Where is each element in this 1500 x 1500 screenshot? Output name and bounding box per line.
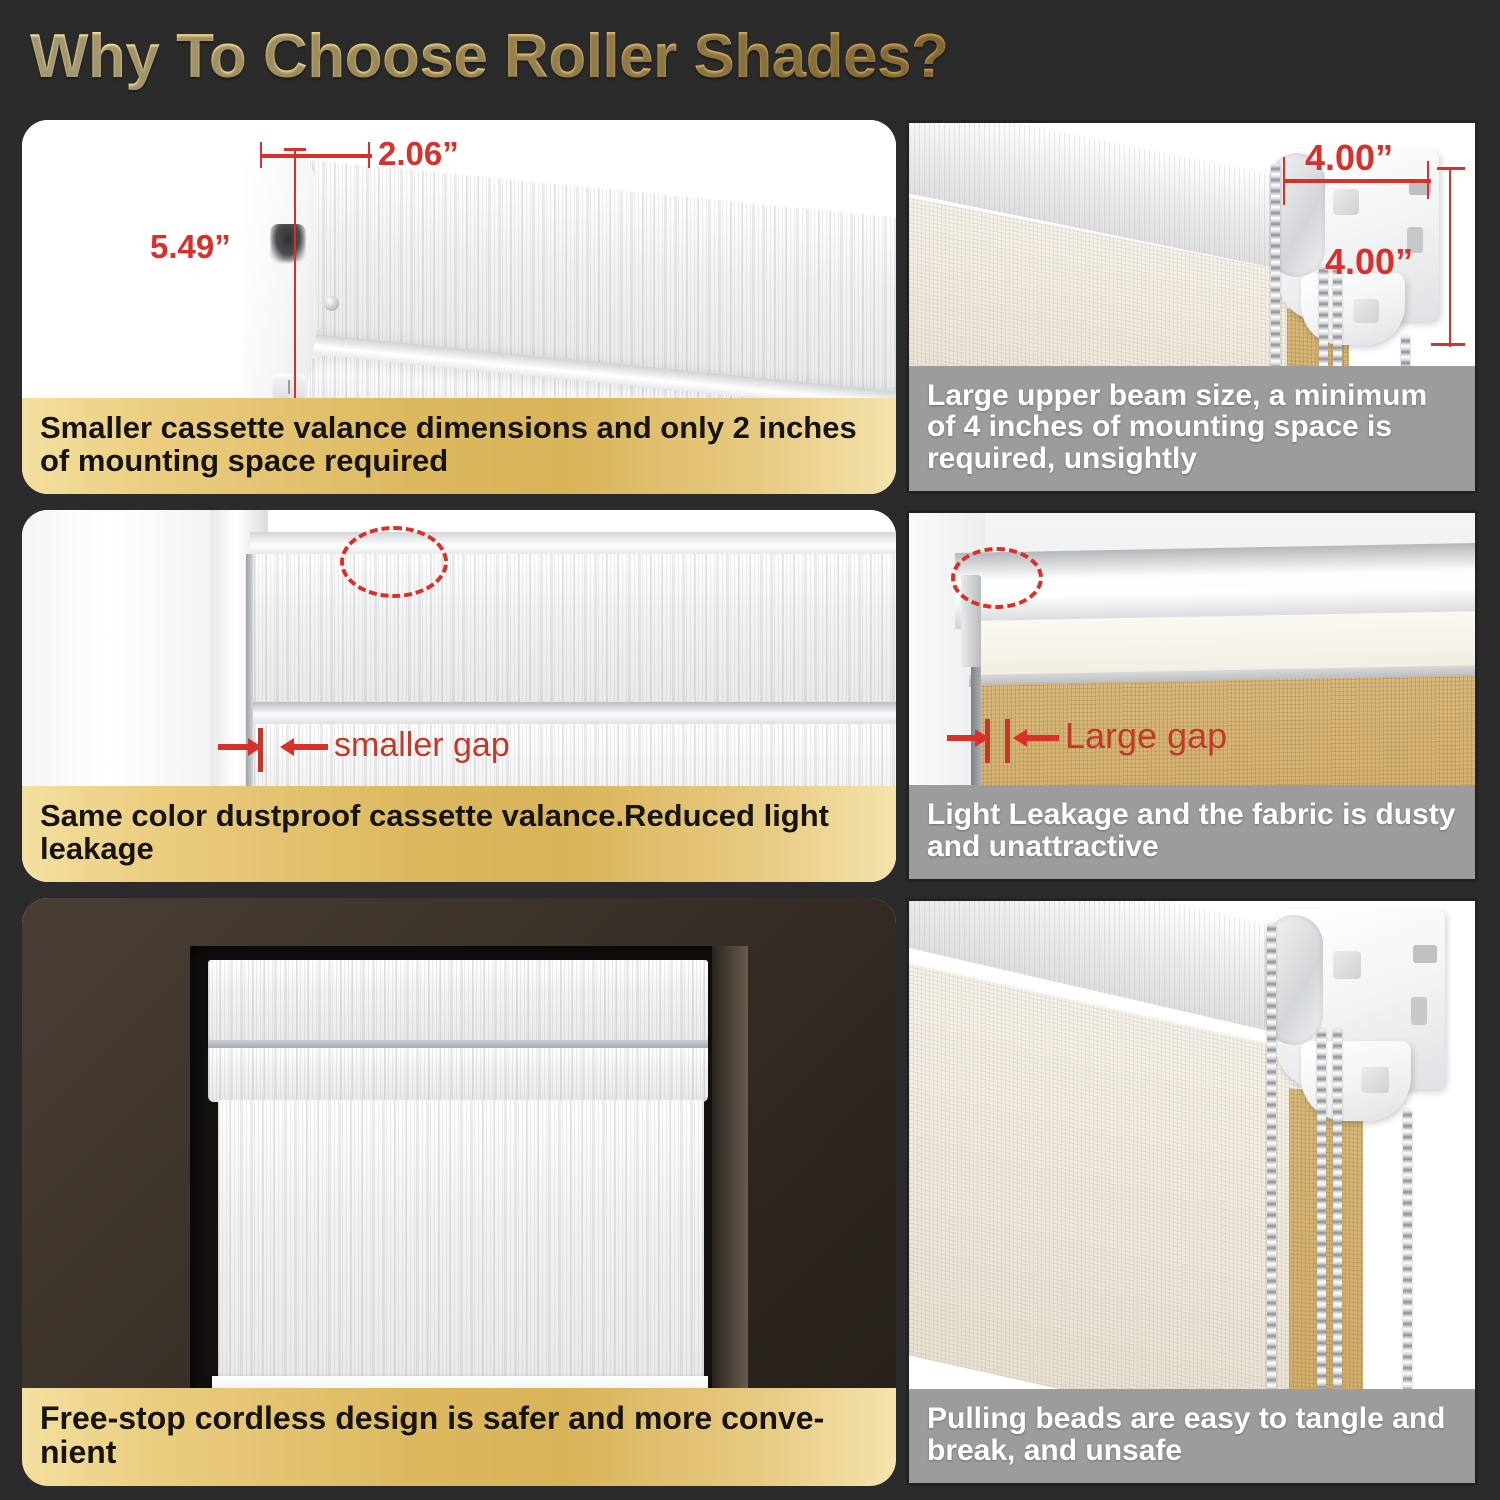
- panel-con-upper-beam-size[interactable]: 4.00” 4.00” Large upper beam size, a min…: [906, 120, 1478, 494]
- caption-con-pulling-beads: Pulling beads are easy to tangle and bre…: [909, 1389, 1475, 1483]
- bead-chain: [1333, 1029, 1342, 1421]
- caption-con-upper-beam-size: Large upper beam size, a minimum of 4 in…: [909, 366, 1475, 491]
- page-header: Why To Choose Roller Shades?: [0, 0, 1500, 112]
- large-gap-label: Large gap: [1065, 715, 1227, 757]
- page-title: Why To Choose Roller Shades?: [30, 21, 948, 92]
- beam-height-label: 4.00”: [1325, 241, 1413, 283]
- smaller-gap-label: smaller gap: [334, 726, 510, 765]
- end-cap-slot-icon: [270, 224, 306, 264]
- panel-pro-dustproof-valance[interactable]: smaller gap Same color dustproof cassett…: [22, 510, 896, 882]
- caption-pro-dustproof-valance: Same color dustproof cassette valance.Re…: [22, 786, 896, 882]
- cassette-valance: [208, 960, 708, 1042]
- bead-chain: [1317, 1029, 1326, 1421]
- highlight-circle-seal: [340, 526, 448, 598]
- beam-width-label: 4.00”: [1305, 137, 1393, 179]
- bead-chain: [1403, 1109, 1412, 1421]
- panel-pro-cassette-size[interactable]: 2.06” 5.49” Smaller cassette valance dim…: [22, 120, 896, 494]
- highlight-circle-gap: [951, 547, 1043, 609]
- bead-chain: [1267, 923, 1276, 1421]
- comparison-grid: 2.06” 5.49” Smaller cassette valance dim…: [0, 112, 1500, 1500]
- panel-con-light-leakage[interactable]: Large gap Light Leakage and the fabric i…: [906, 510, 1478, 882]
- width-dimension-label: 2.06”: [378, 135, 459, 173]
- panel-pro-cordless-design[interactable]: Free-stop cordless design is safer and m…: [22, 898, 896, 1486]
- caption-con-light-leakage: Light Leakage and the fabric is dusty an…: [909, 785, 1475, 879]
- panel-con-pulling-beads[interactable]: Pulling beads are easy to tangle and bre…: [906, 898, 1478, 1486]
- end-cap-screw-icon: [324, 296, 339, 311]
- caption-pro-cassette-size: Smaller cassette valance dimensions and …: [22, 398, 896, 494]
- height-dimension-label: 5.49”: [150, 228, 231, 266]
- caption-pro-cordless-design: Free-stop cordless design is safer and m…: [22, 1388, 896, 1486]
